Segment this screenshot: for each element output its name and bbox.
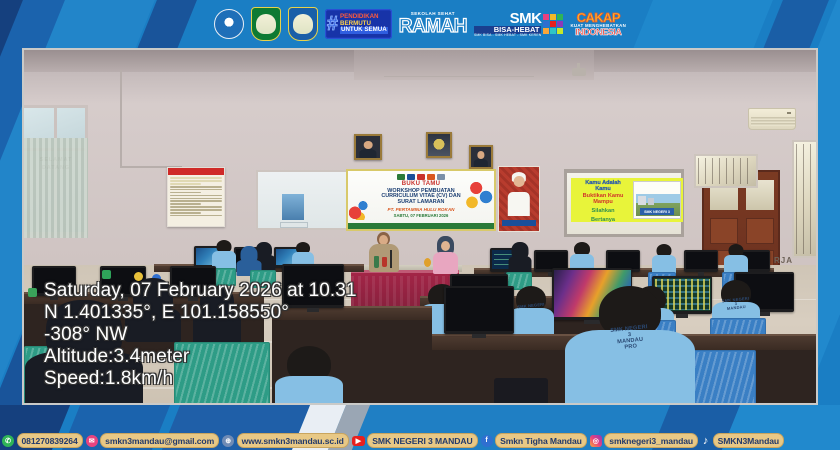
globe-icon: ⊕: [222, 435, 234, 447]
gps-speed: Speed:1.8km/h: [44, 368, 357, 390]
contact-email-text[interactable]: smkn3mandau@gmail.com: [100, 433, 219, 448]
microphone-stand: [390, 250, 392, 268]
contact-email[interactable]: ✉ smkn3mandau@gmail.com: [86, 433, 219, 448]
slide-line-5: Silahkan: [574, 208, 632, 214]
whiteboard-pinned-note: [280, 222, 308, 228]
contact-tiktok[interactable]: ♪ SMKN3Mandau: [701, 433, 784, 448]
slide-line-4: Mampu: [574, 199, 632, 205]
ramah-logo: SEKOLAH SEHAT RAMAH: [399, 7, 467, 41]
right-window-side: [792, 140, 816, 258]
gps-altitude: Altitude:3.4meter: [44, 346, 357, 368]
student-person: [652, 244, 676, 274]
foreground-student-person: SMK NEGERI3MANDAUPRO: [564, 286, 696, 403]
student-person: [724, 244, 748, 274]
contact-instagram[interactable]: ◎ smknegeri3_mandau: [590, 433, 698, 448]
ceiling-projector: [572, 68, 586, 76]
smk-wordmark: SMK: [474, 11, 542, 26]
smk-bisa-hebat-logo: SMK BISA-HEBAT SMK BISA - SMK HEBAT - SM…: [474, 7, 564, 41]
framed-garuda-emblem: [426, 132, 452, 158]
uniform-print-text: SMK NEGERI3MANDAU: [722, 296, 751, 311]
facebook-icon: f: [481, 435, 493, 447]
tut-wuri-handayani-emblem: [214, 7, 244, 41]
window-curtain: [24, 138, 88, 238]
projector-screen: Kamu Adalah Kamu Buktikan Kamu Mampu Sil…: [564, 169, 684, 237]
wall-poster-announcement: [167, 167, 225, 227]
contact-tiktok-text[interactable]: SMKN3Mandau: [713, 433, 784, 448]
footer-contact-band: ✆ 081270839264 ✉ smkn3mandau@gmail.com ⊕…: [0, 405, 840, 450]
pendidikan-bermutu-untuk-semua-logo: # PENDIDIKAN BERMUTU UNTUK SEMUA: [325, 9, 392, 39]
banner-date: SABTU, 07 FEBRUARI 2026: [352, 214, 490, 218]
air-conditioner: [748, 108, 796, 130]
contact-instagram-text[interactable]: smknegeri3_mandau: [604, 433, 698, 448]
computer-monitor: [684, 250, 718, 272]
computer-monitor: [444, 286, 514, 334]
framed-portrait-vice-president: [469, 145, 493, 169]
smk-subtagline: SMK BISA - SMK HEBAT - SMK KEREN: [474, 34, 542, 37]
monitor-sticker: [28, 288, 37, 297]
banner-decoration: [465, 179, 493, 209]
youtube-icon: ▶: [352, 436, 365, 446]
slide-image-panel: SMK NEGERI 3: [633, 181, 681, 219]
water-bottle: [374, 256, 379, 268]
student-person: [212, 240, 236, 270]
hashtag-glyph: #: [327, 14, 338, 34]
instagram-icon: ◎: [590, 435, 602, 447]
contact-website[interactable]: ⊕ www.smkn3mandau.sc.id: [222, 433, 349, 448]
ramah-wordmark: RAMAH: [399, 17, 467, 36]
smk-color-blocks-icon: [543, 14, 563, 34]
logo-line-3: UNTUK SEMUA: [340, 27, 388, 34]
contact-phone-text[interactable]: 081270839264: [17, 433, 83, 448]
slide-line-6: Bertanya: [574, 217, 632, 222]
slide-line-3: Buktikan Kamu: [574, 193, 632, 199]
cakap-logo: CAKAP KUAT MENGHEBATKAN INDONESIA: [570, 7, 626, 41]
wall-poster-portrait: [498, 166, 540, 232]
contact-whatsapp[interactable]: ✆ 081270839264: [2, 433, 83, 448]
bengkalis-regency-emblem: [288, 7, 318, 41]
gps-bearing: -308° NW: [44, 324, 357, 346]
backpack: [494, 378, 548, 403]
drink-bottle: [382, 257, 387, 267]
right-window-upper: [694, 154, 758, 188]
wall-cable: [120, 70, 122, 168]
presentation-slide: Kamu Adalah Kamu Buktikan Kamu Mampu Sil…: [571, 178, 683, 222]
student-person: [508, 242, 532, 274]
event-photo: SELAMATDATANG: [22, 48, 818, 405]
whiteboard-pinned-picture: [282, 194, 304, 220]
gps-datetime: Saturday, 07 February 2026 at 10.31: [44, 280, 357, 302]
contact-youtube[interactable]: ▶ SMK NEGERI 3 MANDAU: [352, 433, 478, 448]
cakap-indonesia: INDONESIA: [570, 28, 626, 37]
student-person: SMK NEGERI: [508, 286, 554, 338]
tiktok-icon: ♪: [701, 435, 710, 447]
contact-facebook[interactable]: f Smkn Tigha Mandau: [481, 433, 587, 448]
contact-facebook-text[interactable]: Smkn Tigha Mandau: [495, 433, 587, 448]
uniform-print-text: SMK NEGERI3MANDAUPRO: [610, 326, 650, 353]
event-banner: BUKU TAMU WORKSHOP PEMBUATAN CURRICULUM …: [346, 169, 496, 231]
ceiling-cable: [384, 76, 534, 77]
contact-website-text[interactable]: www.smkn3mandau.sc.id: [237, 433, 349, 448]
monitor-sticker: [102, 270, 111, 279]
riau-province-emblem: [251, 7, 281, 41]
gps-coordinates: N 1.401335°, E 101.158550°: [44, 302, 357, 324]
host-person: [432, 236, 458, 272]
whatsapp-icon: ✆: [2, 435, 14, 447]
gps-stamp-overlay: Saturday, 07 February 2026 at 10.31 N 1.…: [44, 280, 357, 390]
header-logo-band: # PENDIDIKAN BERMUTU UNTUK SEMUA SEKOLAH…: [0, 0, 840, 48]
fruit-bowl: [424, 258, 431, 267]
gmail-icon: ✉: [86, 435, 98, 447]
banner-decoration: [349, 196, 369, 220]
contact-youtube-text[interactable]: SMK NEGERI 3 MANDAU: [367, 433, 477, 448]
cakap-wordmark: CAKAP: [570, 11, 626, 24]
slide-image-caption: SMK NEGERI 3: [640, 208, 674, 215]
framed-portrait-president: [354, 134, 382, 160]
wall-lettering: RJA: [774, 256, 814, 265]
